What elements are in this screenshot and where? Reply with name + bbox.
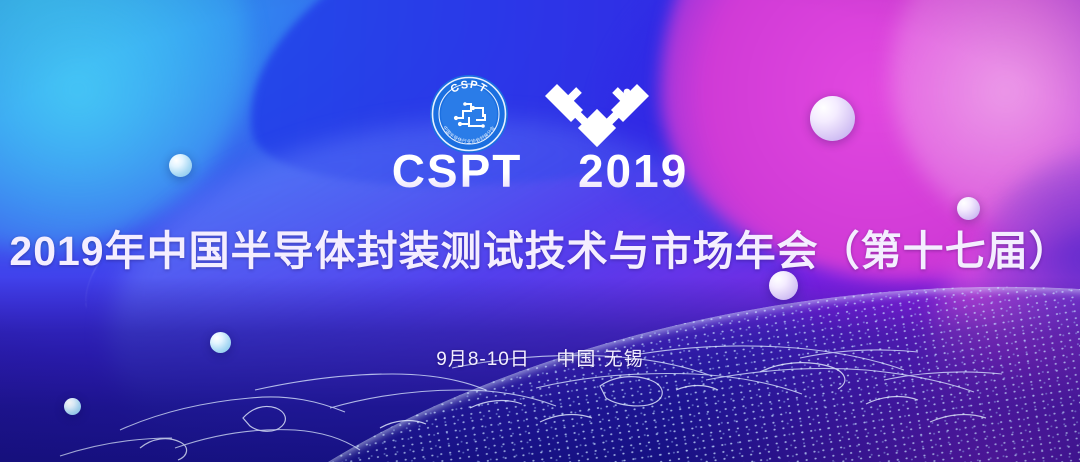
wordmark-year: 2019 — [578, 145, 688, 197]
conference-banner: CSPT 中国半导体行业协会封装分会 — [0, 0, 1080, 462]
wordmark-acronym: CSPT — [392, 145, 523, 197]
wordmark: CSPT 2019 — [0, 148, 1080, 194]
bottom-space-gradient-right — [660, 287, 1080, 462]
conference-w-monogram — [543, 82, 651, 148]
sphere-title-right — [769, 271, 798, 300]
event-dates: 9月8-10日 — [436, 349, 530, 370]
event-location: 中国·无锡 — [556, 349, 643, 370]
logo-row: CSPT 中国半导体行业协会封装分会 — [0, 68, 1080, 160]
sphere-far-right — [957, 197, 980, 220]
event-details: 9月8-10日 中国·无锡 — [0, 344, 1080, 371]
cspt-circular-emblem: CSPT 中国半导体行业协会封装分会 — [429, 74, 509, 154]
sphere-left-low — [64, 398, 81, 415]
page-title: 2019年中国半导体封装测试技术与市场年会（第十七届） — [0, 228, 1080, 275]
